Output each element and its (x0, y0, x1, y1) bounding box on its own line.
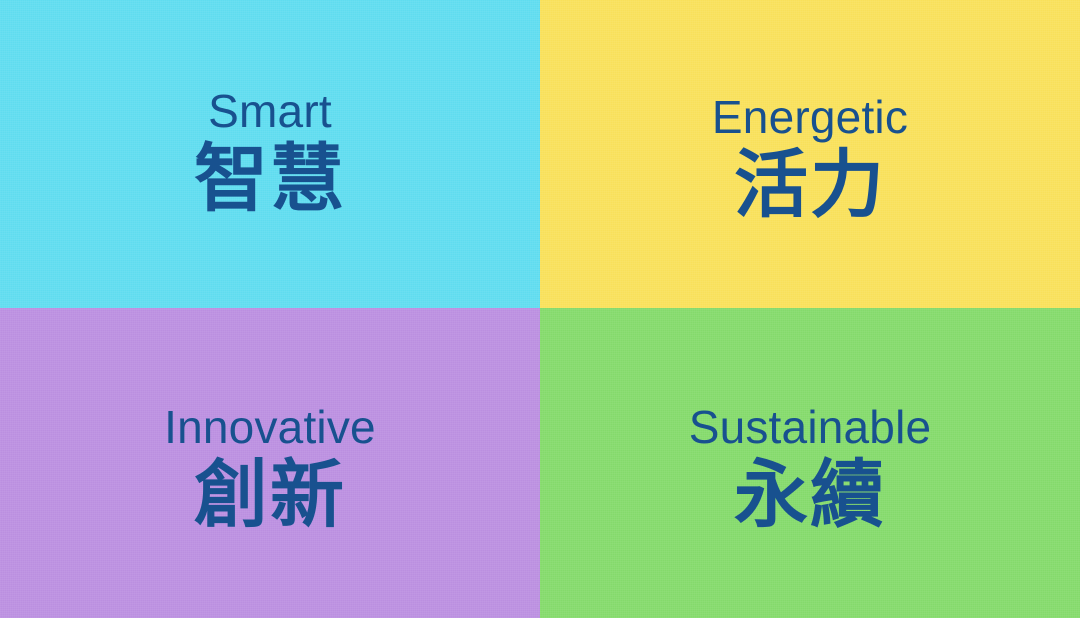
value-label-en-smart: Smart (208, 88, 332, 136)
value-label-zh-energetic: 活力 (734, 146, 886, 224)
brand-values-poster: Smart 智慧 Energetic 活力 Innovative 創新 Sust… (0, 0, 1080, 618)
value-label-zh-innovative: 創新 (194, 456, 346, 534)
quadrant-energetic: Energetic 活力 (540, 0, 1080, 308)
value-label-en-sustainable: Sustainable (689, 404, 932, 452)
value-label-zh-sustainable: 永續 (734, 456, 886, 534)
value-label-zh-smart: 智慧 (194, 140, 346, 218)
value-label-en-energetic: Energetic (712, 94, 908, 142)
value-label-en-innovative: Innovative (164, 404, 376, 452)
values-grid: Smart 智慧 Energetic 活力 Innovative 創新 Sust… (0, 0, 1080, 618)
value-text-stack-innovative: Innovative 創新 (164, 404, 376, 534)
value-text-stack-sustainable: Sustainable 永續 (689, 404, 932, 534)
quadrant-sustainable: Sustainable 永續 (540, 308, 1080, 618)
quadrant-smart: Smart 智慧 (0, 0, 540, 308)
quadrant-innovative: Innovative 創新 (0, 308, 540, 618)
value-text-stack-energetic: Energetic 活力 (712, 94, 908, 224)
value-text-stack-smart: Smart 智慧 (194, 88, 346, 218)
